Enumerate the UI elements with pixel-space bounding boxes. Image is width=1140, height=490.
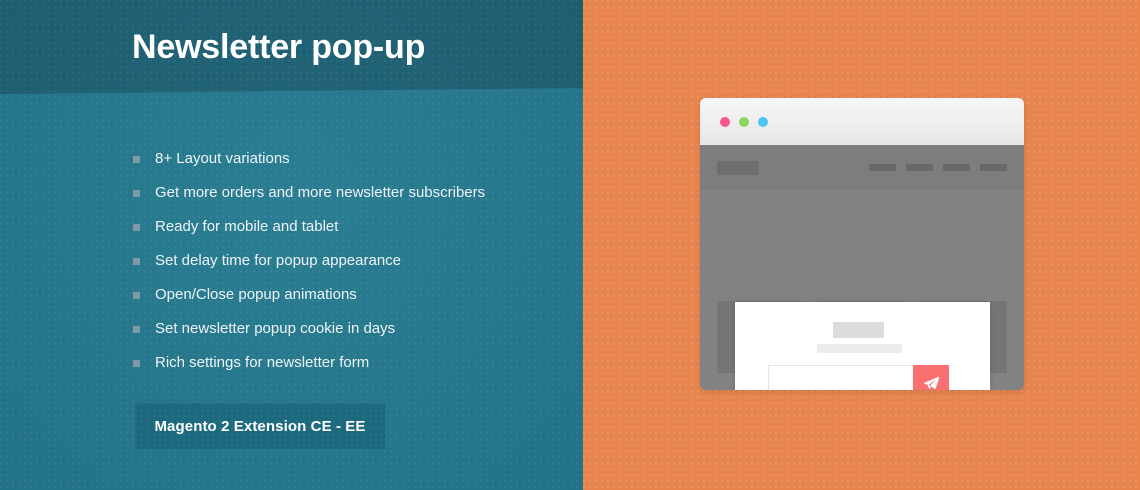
magento-extension-cta-button[interactable]: Magento 2 Extension CE - EE xyxy=(135,403,385,449)
minimize-dot-icon[interactable] xyxy=(739,117,749,127)
mock-nav-item[interactable] xyxy=(980,164,1007,171)
square-bullet-icon xyxy=(133,190,140,197)
mock-site-logo xyxy=(717,161,759,175)
browser-titlebar xyxy=(700,98,1024,145)
feature-label: Ready for mobile and tablet xyxy=(155,218,338,236)
square-bullet-icon xyxy=(133,258,140,265)
newsletter-popup xyxy=(735,302,990,390)
list-item: Get more orders and more newsletter subs… xyxy=(133,176,485,210)
page-title: Newsletter pop-up xyxy=(132,27,425,67)
feature-label: Rich settings for newsletter form xyxy=(155,354,369,372)
mock-nav-item[interactable] xyxy=(869,164,896,171)
mock-nav-item[interactable] xyxy=(943,164,970,171)
list-item: Set delay time for popup appearance xyxy=(133,244,485,278)
popup-email-input[interactable] xyxy=(768,365,913,390)
maximize-dot-icon[interactable] xyxy=(758,117,768,127)
square-bullet-icon xyxy=(133,156,140,163)
feature-label: Get more orders and more newsletter subs… xyxy=(155,184,485,202)
mock-site-body xyxy=(700,190,1024,390)
promo-banner: Newsletter pop-up 8+ Layout variations G… xyxy=(0,0,1140,490)
feature-label: Set delay time for popup appearance xyxy=(155,252,401,270)
feature-label: 8+ Layout variations xyxy=(155,150,290,168)
feature-label: Set newsletter popup cookie in days xyxy=(155,320,395,338)
list-item: Set newsletter popup cookie in days xyxy=(133,312,485,346)
mock-site-header xyxy=(700,145,1024,190)
square-bullet-icon xyxy=(133,326,140,333)
close-dot-icon[interactable] xyxy=(720,117,730,127)
browser-mockup xyxy=(700,98,1024,390)
list-item: Ready for mobile and tablet xyxy=(133,210,485,244)
popup-heading-placeholder xyxy=(833,322,884,338)
mock-nav-item[interactable] xyxy=(906,164,933,171)
square-bullet-icon xyxy=(133,292,140,299)
send-paper-plane-icon xyxy=(923,375,940,391)
square-bullet-icon xyxy=(133,224,140,231)
feature-list: 8+ Layout variations Get more orders and… xyxy=(133,142,485,380)
square-bullet-icon xyxy=(133,360,140,367)
feature-label: Open/Close popup animations xyxy=(155,286,357,304)
popup-submit-button[interactable] xyxy=(913,365,949,390)
mock-site-nav xyxy=(869,164,1007,171)
list-item: Rich settings for newsletter form xyxy=(133,346,485,380)
list-item: 8+ Layout variations xyxy=(133,142,485,176)
list-item: Open/Close popup animations xyxy=(133,278,485,312)
popup-subscribe-form xyxy=(768,365,949,390)
popup-subheading-placeholder xyxy=(817,344,902,353)
